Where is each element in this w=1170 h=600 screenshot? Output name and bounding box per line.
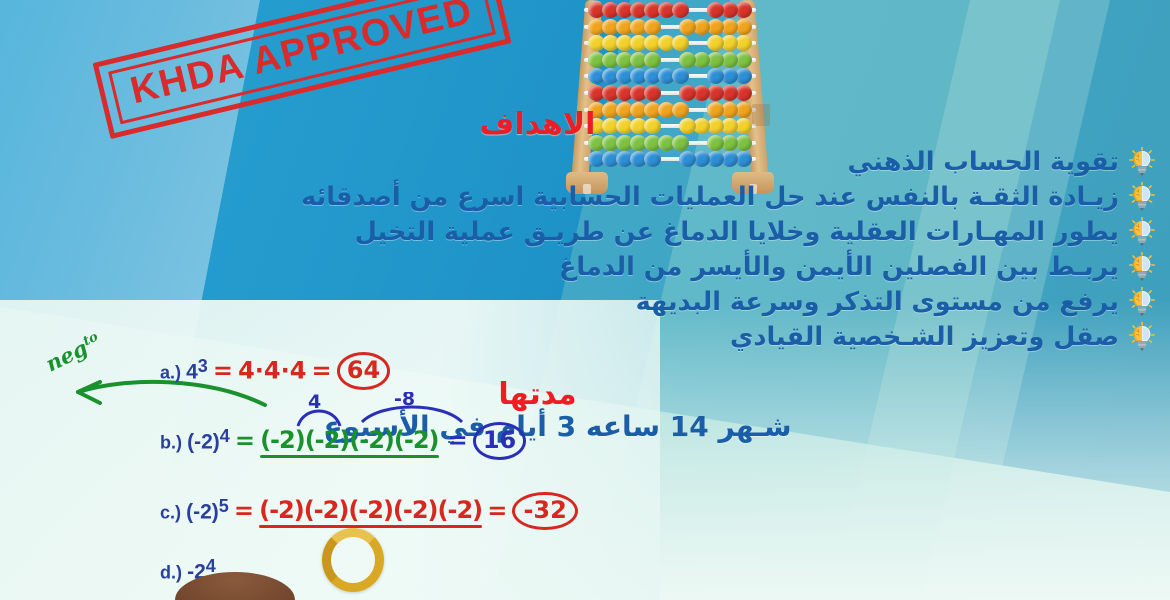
objective-item: يطور المهـارات العقلية وخلايا الدماغ عن … [80, 217, 1155, 247]
math-row-a: a.) 43 = 4·4·4 = 64 [160, 356, 390, 384]
abacus-bead [707, 35, 724, 51]
row-c-base: (-2) [186, 500, 219, 523]
objective-text: يرفع من مستوى التذكر وسرعة البديهة [80, 288, 1119, 317]
brain-lightbulb-icon [1129, 322, 1155, 352]
math-factor: (-2) [259, 496, 304, 524]
abacus-bead [644, 85, 661, 101]
objectives-list: تقوية الحساب الذهنيزيـادة الثقـة بالنفس … [80, 147, 1155, 352]
row-d-label: d.) [160, 562, 182, 582]
objective-item: تقوية الحساب الذهني [80, 147, 1155, 177]
objective-text: يطور المهـارات العقلية وخلايا الدماغ عن … [80, 218, 1119, 247]
row-c-eq2: = [487, 496, 507, 524]
gold-ring-object [322, 528, 384, 592]
abacus-row [584, 35, 756, 51]
abacus-bead [679, 85, 696, 101]
row-c-result: -32 [512, 492, 577, 530]
brain-lightbulb-icon [1129, 287, 1155, 317]
row-b-brace-right-label: -8 [394, 392, 415, 410]
row-c-exponent: 5 [219, 496, 229, 516]
brain-lightbulb-icon [1129, 147, 1155, 177]
objectives-heading: الاهداف [80, 108, 1155, 141]
abacus-bead [707, 68, 724, 84]
brain-lightbulb-icon [1129, 217, 1155, 247]
abacus-bead [679, 52, 696, 68]
abacus-row [584, 2, 756, 18]
row-b-eq1: = [235, 426, 255, 454]
abacus-row [584, 68, 756, 84]
brain-lightbulb-icon [1129, 252, 1155, 282]
row-a-base: 4 [186, 360, 198, 383]
whiteboard-math: negto a.) 43 = 4·4·4 = 64 b.) (-2)4 = (-… [0, 330, 640, 600]
abacus-bead [672, 2, 689, 18]
row-b-pairing-braces: 4 -8 [290, 392, 500, 432]
abacus-row [584, 52, 756, 68]
abacus-bead [644, 19, 661, 35]
objective-text: يربـط بين الفصلين الأيمن والأيسر من الدم… [80, 253, 1119, 282]
row-a-exponent: 3 [198, 356, 208, 376]
row-b-factor-group: (-2)(-2)(-2)(-2) [260, 433, 438, 452]
row-a-label: a.) [160, 362, 181, 382]
math-row-c: c.) (-2)5 = (-2)(-2)(-2)(-2)(-2) = -32 [160, 496, 578, 524]
row-a-eq1: = [213, 356, 233, 384]
row-a-expansion: 4·4·4 [238, 356, 306, 384]
factor-underline [259, 525, 482, 528]
row-b-label: b.) [160, 432, 182, 452]
brain-lightbulb-icon [1129, 182, 1155, 212]
abacus-bead [644, 52, 661, 68]
row-a-eq2: = [312, 356, 332, 384]
math-factor: (-2) [393, 496, 438, 524]
poster-canvas: KHDA APPROVED الاهداف تقوية الحساب الذهن… [0, 0, 1170, 600]
abacus-bead [672, 68, 689, 84]
row-b-exponent: 4 [220, 426, 230, 446]
abacus-row [584, 19, 756, 35]
abacus-bead [679, 19, 696, 35]
objective-text: زيـادة الثقـة بالنفس عند حل العمليات الح… [80, 183, 1119, 212]
row-c-label: c.) [160, 502, 181, 522]
abacus-bead [672, 35, 689, 51]
objective-item: يرفع من مستوى التذكر وسرعة البديهة [80, 287, 1155, 317]
stamp-label: KHDA APPROVED [126, 0, 478, 115]
row-b-brace-left-label: 4 [308, 392, 321, 413]
row-c-eq1: = [234, 496, 254, 524]
math-factor: (-2) [438, 496, 483, 524]
objective-item: زيـادة الثقـة بالنفس عند حل العمليات الح… [80, 182, 1155, 212]
factor-underline [260, 455, 438, 458]
math-factor: (-2) [304, 496, 349, 524]
math-factor: (-2) [348, 496, 393, 524]
row-c-factor-group: (-2)(-2)(-2)(-2)(-2) [259, 503, 482, 522]
row-b-base: (-2) [187, 430, 220, 453]
objective-text: تقوية الحساب الذهني [80, 148, 1119, 177]
abacus-row [584, 85, 756, 101]
row-a-result: 64 [337, 352, 390, 390]
abacus-bead [707, 2, 724, 18]
objective-item: يربـط بين الفصلين الأيمن والأيسر من الدم… [80, 252, 1155, 282]
